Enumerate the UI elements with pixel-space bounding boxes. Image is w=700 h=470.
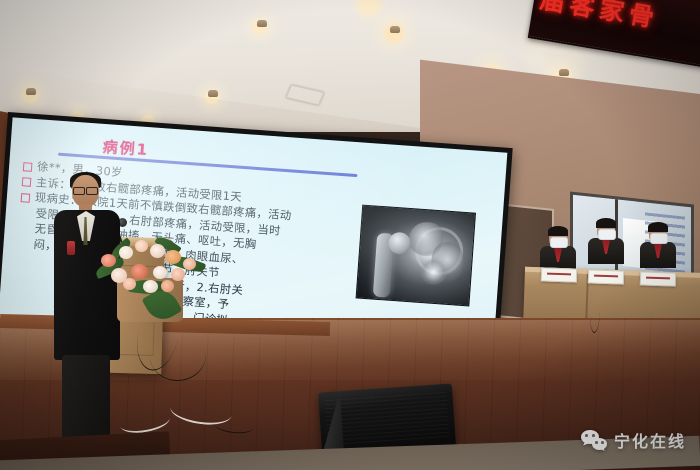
wechat-icon xyxy=(581,430,607,450)
watermark: 宁化在线 xyxy=(581,428,686,452)
ceiling-downlight-icon xyxy=(257,20,267,27)
ceiling-downlight-icon xyxy=(559,69,569,76)
panelist-head xyxy=(549,228,567,248)
xray-femoral-head xyxy=(388,232,412,256)
watermark-text: 宁化在线 xyxy=(614,428,686,452)
name-card xyxy=(588,269,624,284)
square-bullet-icon xyxy=(23,162,33,172)
ceiling-downlight-icon xyxy=(208,90,218,97)
face-mask-icon xyxy=(598,229,616,240)
face-mask-icon xyxy=(550,237,568,248)
ceiling-downlight-icon xyxy=(390,26,400,33)
panelist-hair xyxy=(596,218,616,228)
stage-monitor-speaker xyxy=(318,383,456,454)
name-card xyxy=(541,267,577,282)
square-bullet-icon xyxy=(21,193,31,203)
square-bullet-icon xyxy=(22,177,32,187)
conference-hall-photo: 届客家骨 病例1 徐**，男，30岁 主诉：跌倒致右髋部疼痛，活动受限1天 现病… xyxy=(0,0,700,470)
face-mask-icon xyxy=(650,233,668,244)
eyeglasses-icon xyxy=(73,187,98,193)
panelist-head xyxy=(649,224,667,244)
name-card xyxy=(640,271,676,286)
speaker-grille xyxy=(325,392,450,446)
presenter-badge xyxy=(67,241,75,255)
led-banner-text: 届客家骨 xyxy=(538,0,662,35)
panelist-hair xyxy=(648,222,668,232)
floral-arrangement xyxy=(95,218,207,318)
air-vent-icon xyxy=(286,85,325,106)
panelist-hair xyxy=(548,226,568,236)
panelist-head xyxy=(597,220,615,240)
xray-image xyxy=(356,205,476,307)
